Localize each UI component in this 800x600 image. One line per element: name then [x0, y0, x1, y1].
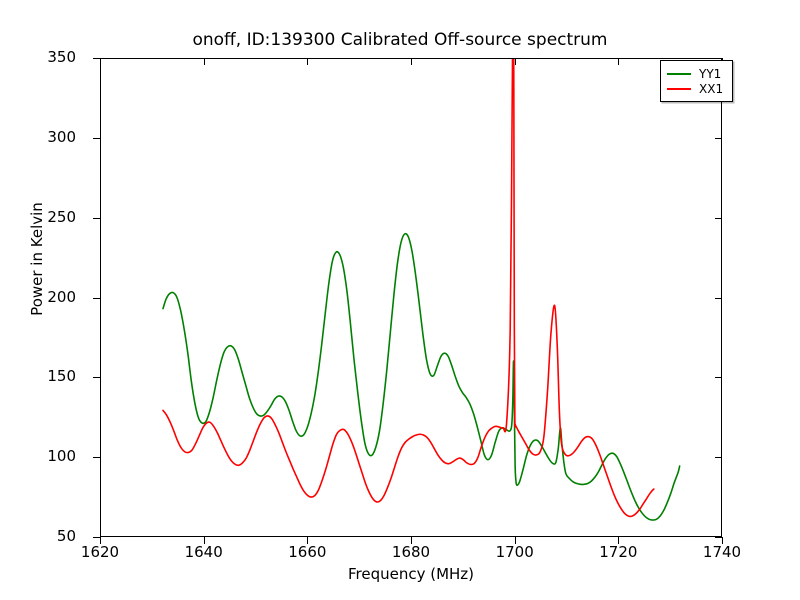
legend-item-xx1[interactable]: XX1: [667, 81, 725, 96]
y-tick-mark: [93, 58, 100, 59]
x-axis-label: Frequency (MHz): [100, 565, 722, 583]
y-tick-mark-right: [715, 537, 722, 538]
legend-swatch-xx1: [667, 88, 691, 90]
x-tick-label: 1660: [272, 543, 342, 561]
y-tick-mark-right: [715, 218, 722, 219]
x-tick-label: 1680: [376, 543, 446, 561]
x-tick-mark-top: [307, 58, 308, 65]
page-title: onoff, ID:139300 Calibrated Off-source s…: [0, 30, 800, 50]
y-tick-label: 350: [16, 48, 76, 66]
series-line-xx1: [163, 59, 654, 516]
legend[interactable]: YY1 XX1: [660, 60, 733, 102]
y-tick-mark-right: [715, 138, 722, 139]
y-tick-mark-right: [715, 457, 722, 458]
x-tick-mark-top: [618, 58, 619, 65]
x-tick-label: 1720: [583, 543, 653, 561]
legend-label-yy1: YY1: [699, 67, 725, 81]
y-tick-mark: [93, 218, 100, 219]
plot-area: [100, 58, 722, 537]
y-tick-label: 100: [16, 447, 76, 465]
x-tick-label: 1740: [687, 543, 757, 561]
series-line-yy1: [163, 234, 680, 520]
y-tick-mark: [93, 298, 100, 299]
matplotlib-figure: onoff, ID:139300 Calibrated Off-source s…: [0, 0, 800, 600]
y-axis-label: Power in Kelvin: [28, 159, 46, 359]
y-tick-mark-right: [715, 58, 722, 59]
x-tick-label: 1620: [65, 543, 135, 561]
y-tick-mark: [93, 457, 100, 458]
y-tick-label: 300: [16, 128, 76, 146]
y-tick-mark: [93, 537, 100, 538]
legend-swatch-yy1: [667, 73, 691, 75]
y-tick-label: 200: [16, 288, 76, 306]
x-tick-mark-top: [411, 58, 412, 65]
y-tick-label: 150: [16, 367, 76, 385]
x-tick-mark-top: [204, 58, 205, 65]
x-tick-mark-top: [515, 58, 516, 65]
spectrum-curves: [101, 59, 721, 536]
legend-label-xx1: XX1: [699, 82, 725, 96]
y-tick-mark: [93, 377, 100, 378]
y-tick-label: 250: [16, 208, 76, 226]
x-tick-label: 1700: [480, 543, 550, 561]
y-tick-mark-right: [715, 377, 722, 378]
x-tick-label: 1640: [169, 543, 239, 561]
y-tick-mark-right: [715, 298, 722, 299]
y-tick-mark: [93, 138, 100, 139]
x-tick-mark-top: [100, 58, 101, 65]
legend-item-yy1[interactable]: YY1: [667, 66, 725, 81]
